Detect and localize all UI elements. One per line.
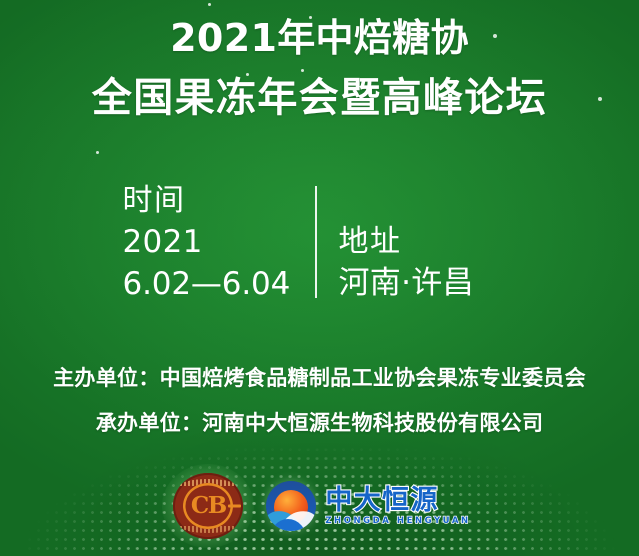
- poster-headline: 2021年中焙糖协 全国果冻年会暨高峰论坛: [0, 14, 639, 124]
- event-poster: 2021年中焙糖协 全国果冻年会暨高峰论坛 时间 2021 6.02—6.04 …: [0, 0, 639, 556]
- event-info: 时间 2021 6.02—6.04 地址 河南·许昌: [0, 182, 639, 304]
- headline-line-1: 2021年中焙糖协: [0, 14, 639, 63]
- event-address-block: 地址 河南·许昌: [317, 182, 517, 303]
- speckle-dot: [208, 3, 211, 6]
- host-organization: 主办单位：中国焙烤食品糖制品工业协会果冻专业委员会: [0, 362, 639, 392]
- cbia-outer-ring: CB: [173, 473, 243, 539]
- time-range: 6.02—6.04: [123, 265, 301, 304]
- speckle-dot: [96, 151, 99, 154]
- cbia-emblem-icon: CB: [168, 469, 248, 543]
- time-label: 时间: [123, 182, 301, 220]
- time-year: 2021: [123, 223, 301, 262]
- cbia-monogram: CB: [191, 494, 226, 517]
- zhongda-hengyuan-logo: 中大恒源 ZHONGDA HENGYUAN: [266, 481, 470, 531]
- address-label: 地址: [339, 223, 517, 261]
- headline-line-2: 全国果冻年会暨高峰论坛: [0, 72, 639, 124]
- co-organizer: 承办单位：河南中大恒源生物科技股份有限公司: [0, 407, 639, 437]
- logo-row: CB 中大恒源 ZHONGDA HENGYUAN: [0, 464, 639, 548]
- address-value: 河南·许昌: [339, 264, 517, 303]
- zhongda-name-en: ZHONGDA HENGYUAN: [325, 517, 470, 526]
- event-time-block: 时间 2021 6.02—6.04: [123, 182, 315, 304]
- zhongda-wordmark: 中大恒源 ZHONGDA HENGYUAN: [325, 487, 470, 526]
- zhongda-sun-wave-icon: [266, 481, 316, 531]
- zhongda-name-cn: 中大恒源: [325, 487, 470, 514]
- cbia-tick-mark: [228, 505, 241, 508]
